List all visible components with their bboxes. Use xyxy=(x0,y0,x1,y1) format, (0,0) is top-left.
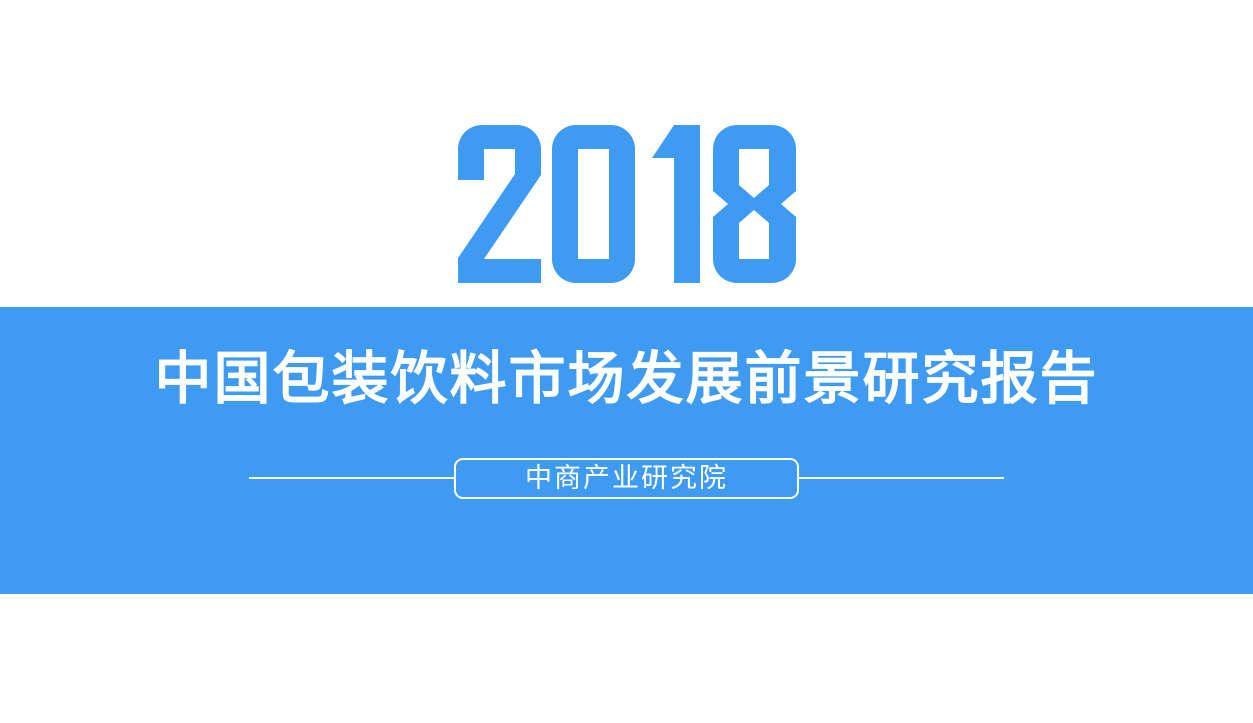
organization-label: 中商产业研究院 xyxy=(525,465,728,492)
year-digit-1 xyxy=(652,125,700,283)
year-digit-0 xyxy=(552,125,635,283)
report-cover-slide: 2018 中国包装饮料市场发展前景研究报告 中商产业研究院 xyxy=(0,0,1253,723)
divider-line-left xyxy=(249,477,454,479)
subtitle-row: 中商产业研究院 xyxy=(0,457,1253,499)
year-block: 2018 xyxy=(0,0,1253,307)
year-2018-graphic xyxy=(458,125,796,283)
year-digit-8 xyxy=(713,125,796,283)
year-digit-2 xyxy=(458,125,541,283)
organization-badge: 中商产业研究院 xyxy=(454,458,799,499)
page-title: 中国包装饮料市场发展前景研究报告 xyxy=(0,343,1253,415)
footer-area xyxy=(0,594,1253,723)
divider-line-right xyxy=(799,477,1004,479)
